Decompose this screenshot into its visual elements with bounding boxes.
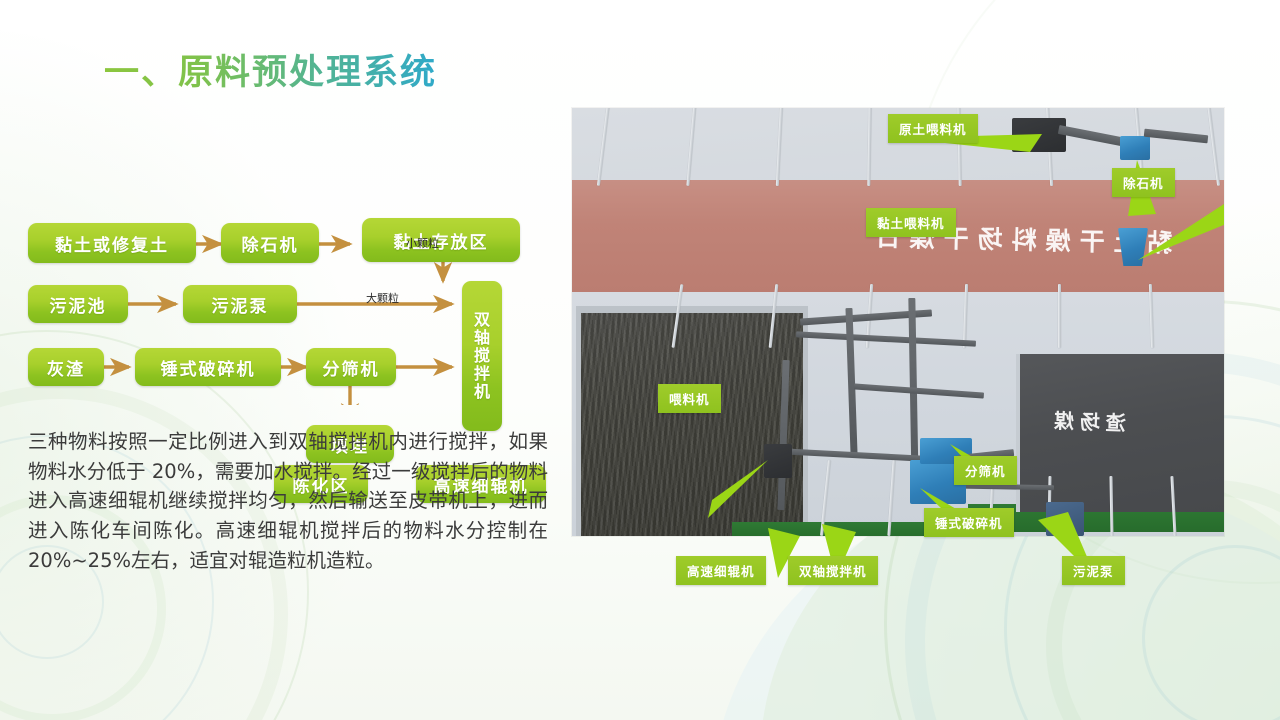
flow-node-label-char: 轴: [474, 329, 490, 347]
flow-node-label: 灰渣: [47, 355, 85, 380]
flow-node-label-char: 搅: [474, 347, 490, 365]
flow-node-clay-storage[interactable]: 黏土存放区: [362, 218, 520, 262]
callout-label: 黏土喂料机: [877, 216, 945, 231]
edge-label-small-particles: 小颗粒: [406, 235, 439, 251]
leader-feeder: [708, 460, 768, 518]
callout-twin-shaft-mixer[interactable]: 双轴搅拌机: [788, 556, 878, 585]
callout-screen[interactable]: 分筛机: [954, 456, 1017, 485]
callout-destoner[interactable]: 除石机: [1112, 168, 1175, 197]
flow-node-label: 污泥池: [50, 292, 107, 317]
callout-clay-feeder[interactable]: 黏土喂料机: [866, 208, 956, 237]
callout-label: 双轴搅拌机: [799, 564, 867, 579]
flow-node-label: 除石机: [242, 231, 299, 256]
callout-label: 污泥泵: [1073, 564, 1114, 579]
callout-label: 锤式破碎机: [935, 516, 1003, 531]
flow-node-sludge-pump[interactable]: 污泥泵: [183, 285, 297, 323]
body-paragraph: 三种物料按照一定比例进入到双轴搅拌机内进行搅拌，如果物料水分低于 20%，需要加…: [28, 427, 548, 575]
callout-label: 高速细辊机: [687, 564, 755, 579]
callout-sludge-pump[interactable]: 污泥泵: [1062, 556, 1125, 585]
callout-label: 喂料机: [669, 392, 710, 407]
flow-node-twin-shaft-mixer[interactable]: 双 轴 搅 拌 机: [462, 281, 502, 431]
callout-hammer-crusher[interactable]: 锤式破碎机: [924, 508, 1014, 537]
flow-node-label-char: 机: [474, 383, 490, 401]
flow-node-label: 黏土或修复土: [55, 231, 169, 256]
flow-node-label-char: 双: [474, 311, 490, 329]
flow-node-label: 锤式破碎机: [161, 355, 256, 380]
page-title: 一、原料预处理系统: [104, 44, 437, 95]
flow-node-destoner[interactable]: 除石机: [221, 223, 319, 263]
callout-raw-soil-feeder[interactable]: 原土喂料机: [888, 114, 978, 143]
flow-node-label: 分筛机: [323, 355, 380, 380]
flow-node-label-char: 拌: [474, 365, 490, 383]
callout-label: 除石机: [1123, 176, 1164, 191]
flow-node-ash-slag[interactable]: 灰渣: [28, 348, 104, 386]
flow-node-screen[interactable]: 分筛机: [306, 348, 396, 386]
flow-node-label: 污泥泵: [212, 292, 269, 317]
callout-high-speed-roller[interactable]: 高速细辊机: [676, 556, 766, 585]
flow-node-hammer-crusher[interactable]: 锤式破碎机: [135, 348, 281, 386]
edge-label-large-particles: 大颗粒: [366, 290, 399, 306]
callout-label: 原土喂料机: [899, 122, 967, 137]
callout-feeder[interactable]: 喂料机: [658, 384, 721, 413]
flow-node-clay-soil[interactable]: 黏土或修复土: [28, 223, 196, 263]
callout-label: 分筛机: [965, 464, 1006, 479]
process-flow-diagram: 黏土或修复土 除石机 黏土存放区 污泥池 污泥泵 灰渣 锤式破碎机 分筛机 双 …: [0, 105, 560, 405]
flow-node-sludge-pit[interactable]: 污泥池: [28, 285, 128, 323]
